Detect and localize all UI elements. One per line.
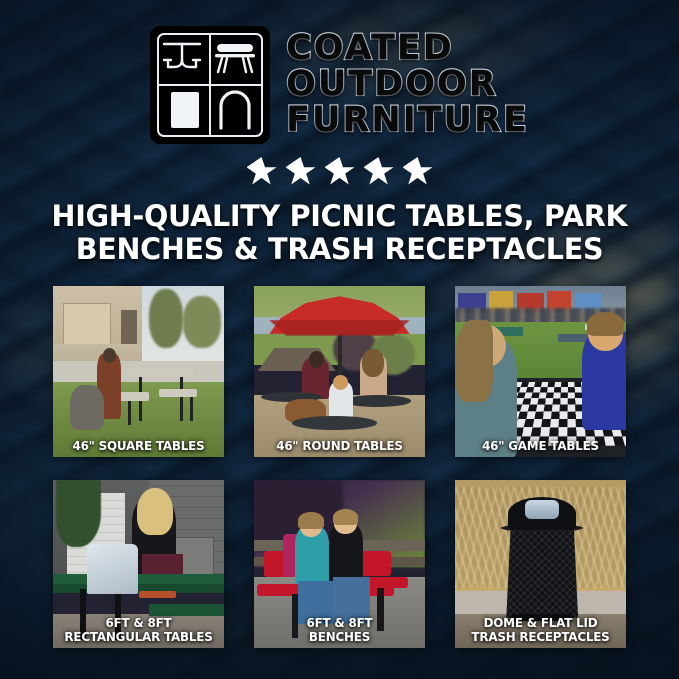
logo-icon-grid xyxy=(150,26,270,144)
logo-wordmark: COATED OUTDOOR FURNITURE xyxy=(286,31,529,138)
product-caption: 46" GAME TABLES xyxy=(460,439,620,452)
product-photo-square-tables xyxy=(53,286,224,457)
product-grid: 46" SQUARE TABLES xyxy=(53,286,627,648)
product-caption: 6FT & 8FT RECTANGULAR TABLES xyxy=(58,616,218,643)
bike-rack-arch-icon xyxy=(216,88,254,130)
product-caption: 46" SQUARE TABLES xyxy=(58,439,218,452)
star-icon xyxy=(325,157,355,186)
logo-line-3: FURNITURE xyxy=(286,103,529,139)
advertisement-banner: COATED OUTDOOR FURNITURE HIGH-QUALITY PI… xyxy=(0,0,679,679)
headline-line-1: HIGH-QUALITY PICNIC TABLES, PARK xyxy=(35,200,643,233)
star-icon xyxy=(403,157,433,186)
product-caption: DOME & FLAT LID TRASH RECEPTACLES xyxy=(460,616,620,643)
logo-divider-horizontal xyxy=(158,84,262,86)
logo-line-1: COATED xyxy=(286,31,529,67)
product-card-round-tables[interactable]: 46" ROUND TABLES xyxy=(254,286,425,457)
product-photo-round-tables xyxy=(254,286,425,457)
product-card-game-tables[interactable]: 46" GAME TABLES xyxy=(455,286,626,457)
product-card-benches[interactable]: 6FT & 8FT BENCHES xyxy=(254,480,425,648)
headline-line-2: BENCHES & TRASH RECEPTACLES xyxy=(35,233,643,266)
star-icon xyxy=(247,157,277,186)
headline: HIGH-QUALITY PICNIC TABLES, PARK BENCHES… xyxy=(35,200,643,266)
star-icon xyxy=(286,157,316,186)
product-card-rectangular-tables[interactable]: 6FT & 8FT RECTANGULAR TABLES xyxy=(53,480,224,648)
product-caption: 6FT & 8FT BENCHES xyxy=(259,616,419,643)
star-rating xyxy=(0,157,679,186)
product-photo-game-tables xyxy=(455,286,626,457)
picnic-table-icon xyxy=(162,40,202,74)
product-card-square-tables[interactable]: 46" SQUARE TABLES xyxy=(53,286,224,457)
logo-line-2: OUTDOOR xyxy=(286,67,529,103)
product-card-trash-receptacles[interactable]: DOME & FLAT LID TRASH RECEPTACLES xyxy=(455,480,626,648)
product-caption: 46" ROUND TABLES xyxy=(259,439,419,452)
star-icon xyxy=(364,157,394,186)
brand-logo: COATED OUTDOOR FURNITURE xyxy=(0,26,679,144)
bench-icon xyxy=(214,42,256,74)
trash-receptacle-icon xyxy=(168,90,202,130)
